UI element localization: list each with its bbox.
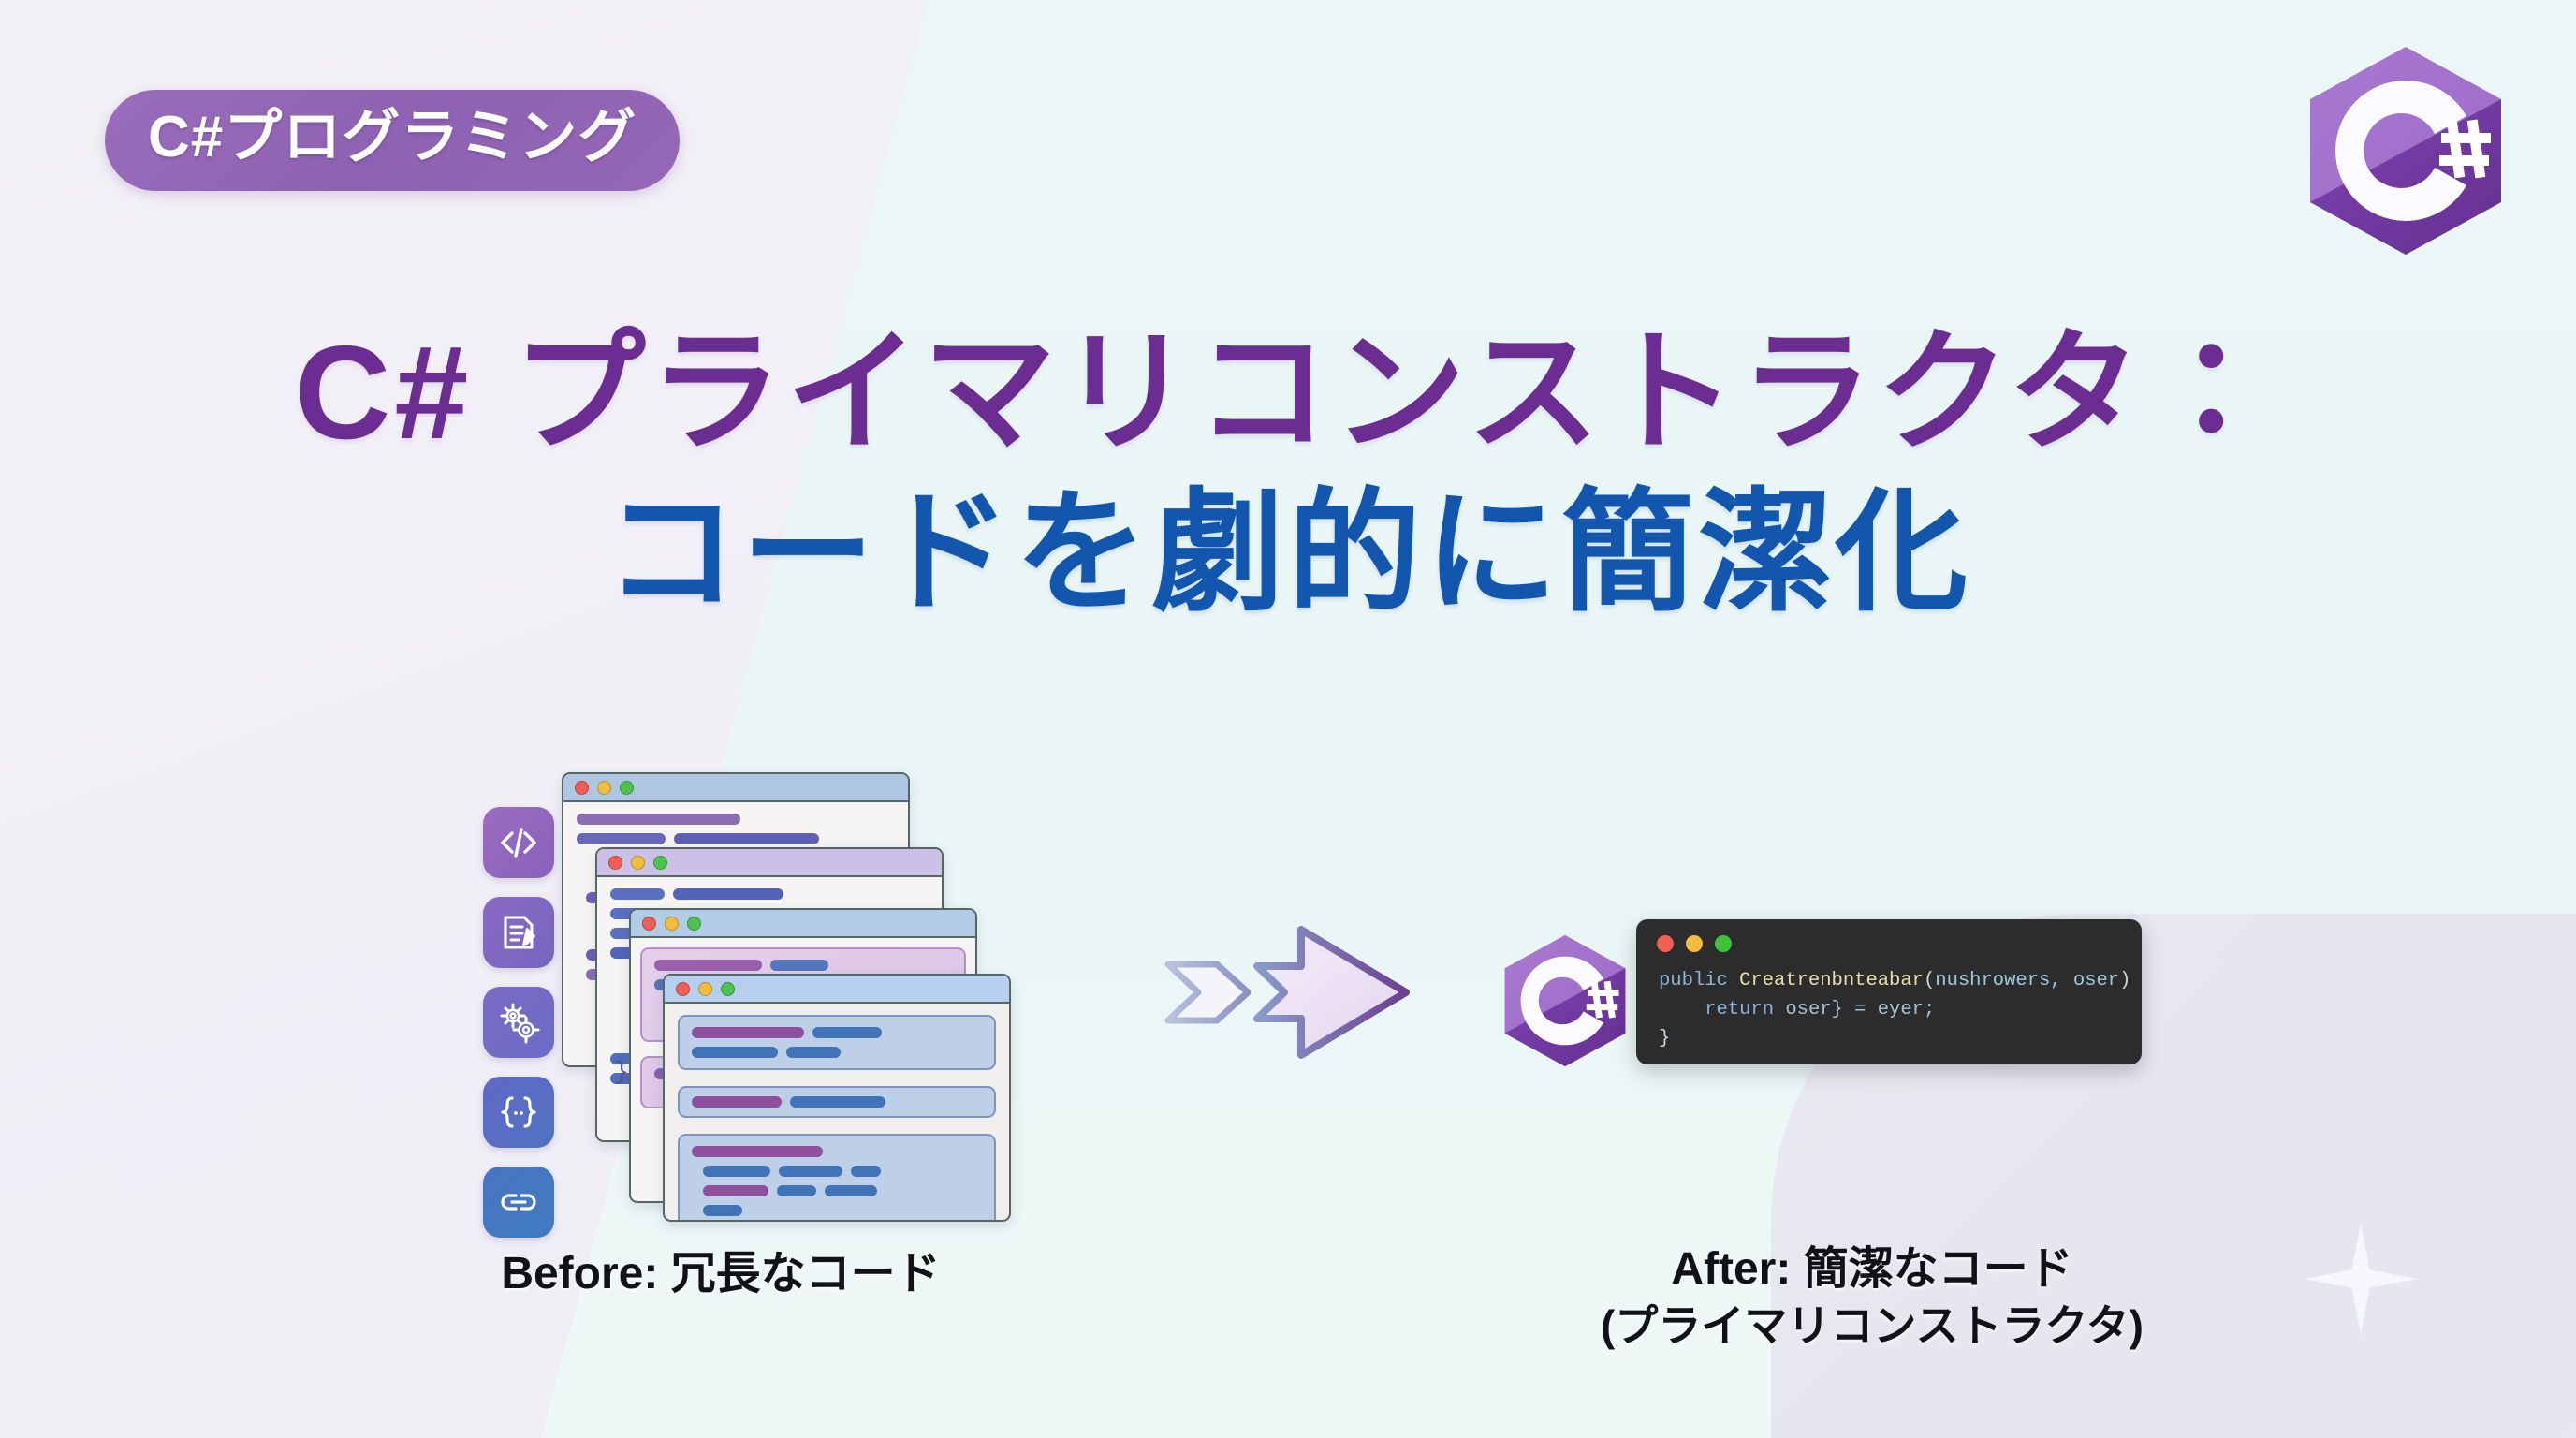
thumbnail-canvas: C#プログラミング C# プライ xyxy=(0,0,2576,1438)
traffic-light-red-dot xyxy=(575,781,589,795)
code-line xyxy=(577,833,666,844)
document-edit-icon[interactable] xyxy=(483,897,554,968)
traffic-light-yellow-dot xyxy=(698,982,712,996)
traffic-light-green-dot xyxy=(721,982,735,996)
code-token-params: nushrowers, oser xyxy=(1935,970,2119,991)
traffic-light-green-dot xyxy=(1715,935,1732,952)
after-code-card: public Creatrenbnteabar(nushrowers, oser… xyxy=(1636,919,2142,1064)
code-line xyxy=(786,1047,841,1058)
traffic-light-green-dot xyxy=(687,917,701,931)
window-title-bar xyxy=(631,910,975,938)
code-line xyxy=(673,888,783,900)
traffic-light-red-dot xyxy=(1657,935,1674,952)
code-line xyxy=(703,1205,742,1216)
traffic-light-red-dot xyxy=(608,856,622,870)
code-line xyxy=(790,1096,885,1108)
code-window xyxy=(663,974,1011,1222)
curly-braces-icon[interactable] xyxy=(483,1077,554,1148)
code-line xyxy=(703,1166,770,1177)
after-caption-text: After: 簡潔なコード xyxy=(1671,1244,2072,1294)
code-line xyxy=(770,960,828,971)
code-line xyxy=(654,960,762,971)
code-line xyxy=(674,833,819,844)
code-block xyxy=(678,1086,996,1118)
traffic-light-green-dot xyxy=(620,781,634,795)
traffic-light-yellow-dot xyxy=(631,856,645,870)
csharp-logo-icon xyxy=(1494,927,1636,1075)
after-caption-subtext: (プライマリコンストラクタ) xyxy=(1423,1299,2321,1355)
code-line xyxy=(851,1166,881,1177)
code-line xyxy=(825,1185,877,1196)
after-caption: After: 簡潔なコード (プライマリコンストラクタ) xyxy=(1423,1240,2321,1355)
code-line xyxy=(577,814,740,825)
code-line xyxy=(610,888,665,900)
before-caption-text: Before: 冗長なコード xyxy=(501,1249,940,1299)
code-line xyxy=(692,1146,823,1157)
window-title-bar xyxy=(665,976,1009,1004)
code-line xyxy=(692,1096,782,1108)
code-token-return: return xyxy=(1705,999,1774,1020)
code-block xyxy=(678,1015,996,1070)
code-brackets-icon[interactable] xyxy=(483,807,554,878)
closing-brace: } xyxy=(614,1058,629,1086)
traffic-light-green-dot xyxy=(653,856,667,870)
window-title-bar xyxy=(563,774,908,802)
code-line xyxy=(692,1047,778,1058)
code-line xyxy=(779,1166,842,1177)
category-badge[interactable]: C#プログラミング xyxy=(105,90,680,191)
gears-icon[interactable] xyxy=(483,987,554,1058)
window-title-bar xyxy=(597,849,942,877)
feature-icon-rail xyxy=(483,807,554,1238)
link-chain-icon[interactable] xyxy=(483,1167,554,1238)
traffic-light-red-dot xyxy=(676,982,690,996)
traffic-light-red-dot xyxy=(642,917,656,931)
code-card-body: public Creatrenbnteabar(nushrowers, oser… xyxy=(1636,952,2142,1053)
traffic-light-yellow-dot xyxy=(1686,935,1703,952)
window-code-body xyxy=(665,1004,1009,1222)
stacked-code-windows: } } xyxy=(562,772,1086,1222)
code-line xyxy=(777,1185,816,1196)
code-token-function-name: Creatrenbnteabar xyxy=(1739,970,1924,991)
traffic-light-yellow-dot xyxy=(597,781,611,795)
before-caption: Before: 冗長なコード xyxy=(374,1245,1067,1303)
code-block xyxy=(678,1134,996,1222)
code-line xyxy=(703,1185,768,1196)
right-arrow-transform-icon xyxy=(1151,922,1432,1063)
category-badge-label: C#プログラミング xyxy=(148,109,637,167)
traffic-light-yellow-dot xyxy=(665,917,679,931)
code-line xyxy=(692,1027,804,1038)
csharp-logo-icon xyxy=(2293,34,2518,268)
code-card-title-bar xyxy=(1636,919,2142,952)
code-token-return-expr: oser} = eyer; xyxy=(1785,999,1935,1020)
code-token-keyword: public xyxy=(1659,970,1728,991)
code-line xyxy=(812,1027,882,1038)
